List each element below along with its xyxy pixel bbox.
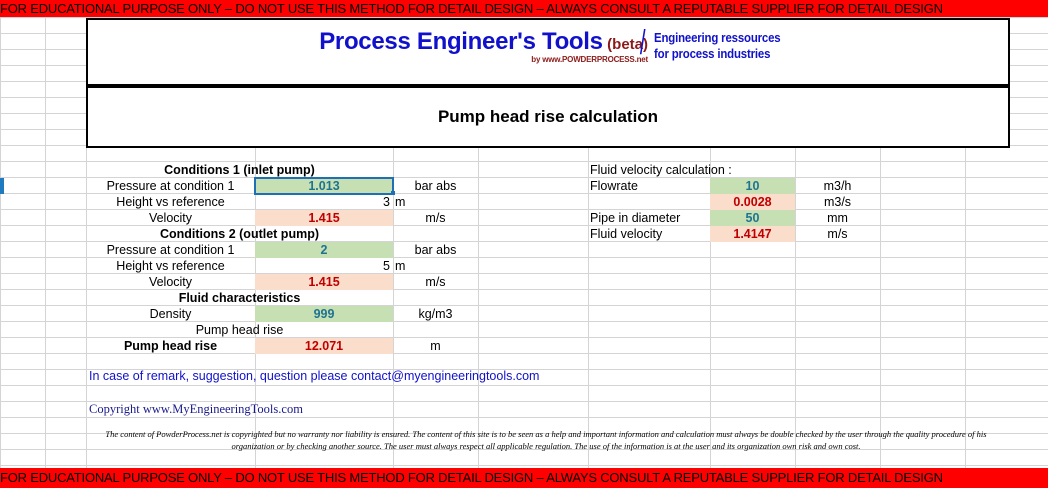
section-header-section2-header: Conditions 2 (outlet pump) (86, 226, 393, 242)
unit-label: m (393, 194, 478, 210)
row-label: Velocity (86, 210, 255, 226)
unit-label: bar abs (393, 178, 478, 194)
value-cell[interactable]: 3 (255, 194, 393, 210)
section-header-section4-header: Pump head rise (86, 322, 393, 338)
logo-divider-slash: / (640, 24, 646, 63)
selection-fill-handle[interactable] (391, 191, 395, 195)
right-row-label (588, 194, 710, 210)
logo-frame: Process Engineer's Tools (beta) by www.P… (86, 18, 1010, 86)
row-label: Density (86, 306, 255, 322)
contact-text: In case of remark, suggestion, question … (89, 369, 539, 383)
right-unit-label: m3/h (795, 178, 880, 194)
output-value-cell[interactable]: 12.071 (255, 338, 393, 354)
page-title: Pump head rise calculation (86, 86, 1010, 148)
logo-tagline-line1: Engineering ressources (654, 30, 780, 46)
disclaimer-text: The content of PowderProcess.net is copy… (96, 428, 996, 452)
row-label: Pressure at condition 1 (86, 242, 255, 258)
input-value-cell[interactable]: 2 (255, 242, 393, 258)
right-row-label: Fluid velocity (588, 226, 710, 242)
copyright-text: Copyright www.MyEngineeringTools.com (89, 402, 303, 417)
output-value-cell[interactable]: 1.415 (255, 210, 393, 226)
row-label: Height vs reference (86, 194, 255, 210)
row-label: Pressure at condition 1 (86, 178, 255, 194)
right-unit-label: mm (795, 210, 880, 226)
input-value-cell[interactable]: 999 (255, 306, 393, 322)
grid-row-line (0, 465, 1048, 466)
row-selection-indicator (0, 178, 4, 194)
row-label: Pump head rise (86, 338, 255, 354)
unit-label: m (393, 258, 478, 274)
output-value-cell[interactable]: 1.415 (255, 274, 393, 290)
unit-label: kg/m3 (393, 306, 478, 322)
output-value-cell[interactable]: 0.0028 (710, 194, 795, 210)
input-value-cell[interactable]: 50 (710, 210, 795, 226)
grid-row-line (0, 385, 1048, 386)
right-row-label: Pipe in diameter (588, 210, 710, 226)
right-unit-label: m3/s (795, 194, 880, 210)
right-unit-label: m/s (795, 226, 880, 242)
logo-title: Process Engineer's Tools (319, 28, 603, 55)
bottom-warning-banner: FOR EDUCATIONAL PURPOSE ONLY – DO NOT US… (0, 468, 1048, 488)
unit-label: m (393, 338, 478, 354)
input-value-cell[interactable]: 10 (710, 178, 795, 194)
grid-row-line (0, 417, 1048, 418)
grid-col-line (45, 17, 46, 468)
right-row-label: Flowrate (588, 178, 710, 194)
section-header-section1-header: Conditions 1 (inlet pump) (86, 162, 393, 178)
unit-label: m/s (393, 274, 478, 290)
right-section-header: Fluid velocity calculation : (588, 162, 795, 178)
unit-label: m/s (393, 210, 478, 226)
section-header-section3-header: Fluid characteristics (86, 290, 393, 306)
unit-label: bar abs (393, 242, 478, 258)
value-cell[interactable]: 5 (255, 258, 393, 274)
row-label: Height vs reference (86, 258, 255, 274)
logo-byline: by www.POWDERPROCESS.net (188, 55, 648, 64)
logo-text-block: Process Engineer's Tools (beta) by www.P… (188, 28, 648, 64)
row-label: Velocity (86, 274, 255, 290)
top-warning-banner: FOR EDUCATIONAL PURPOSE ONLY – DO NOT US… (0, 0, 1048, 17)
output-value-cell[interactable]: 1.4147 (710, 226, 795, 242)
logo-tagline: Engineering ressources for process indus… (654, 30, 780, 62)
logo-tagline-line2: for process industries (654, 46, 780, 62)
spreadsheet-canvas: FOR EDUCATIONAL PURPOSE ONLY – DO NOT US… (0, 0, 1048, 488)
input-value-cell[interactable]: 1.013 (255, 178, 393, 194)
grid-col-line (0, 17, 1, 468)
